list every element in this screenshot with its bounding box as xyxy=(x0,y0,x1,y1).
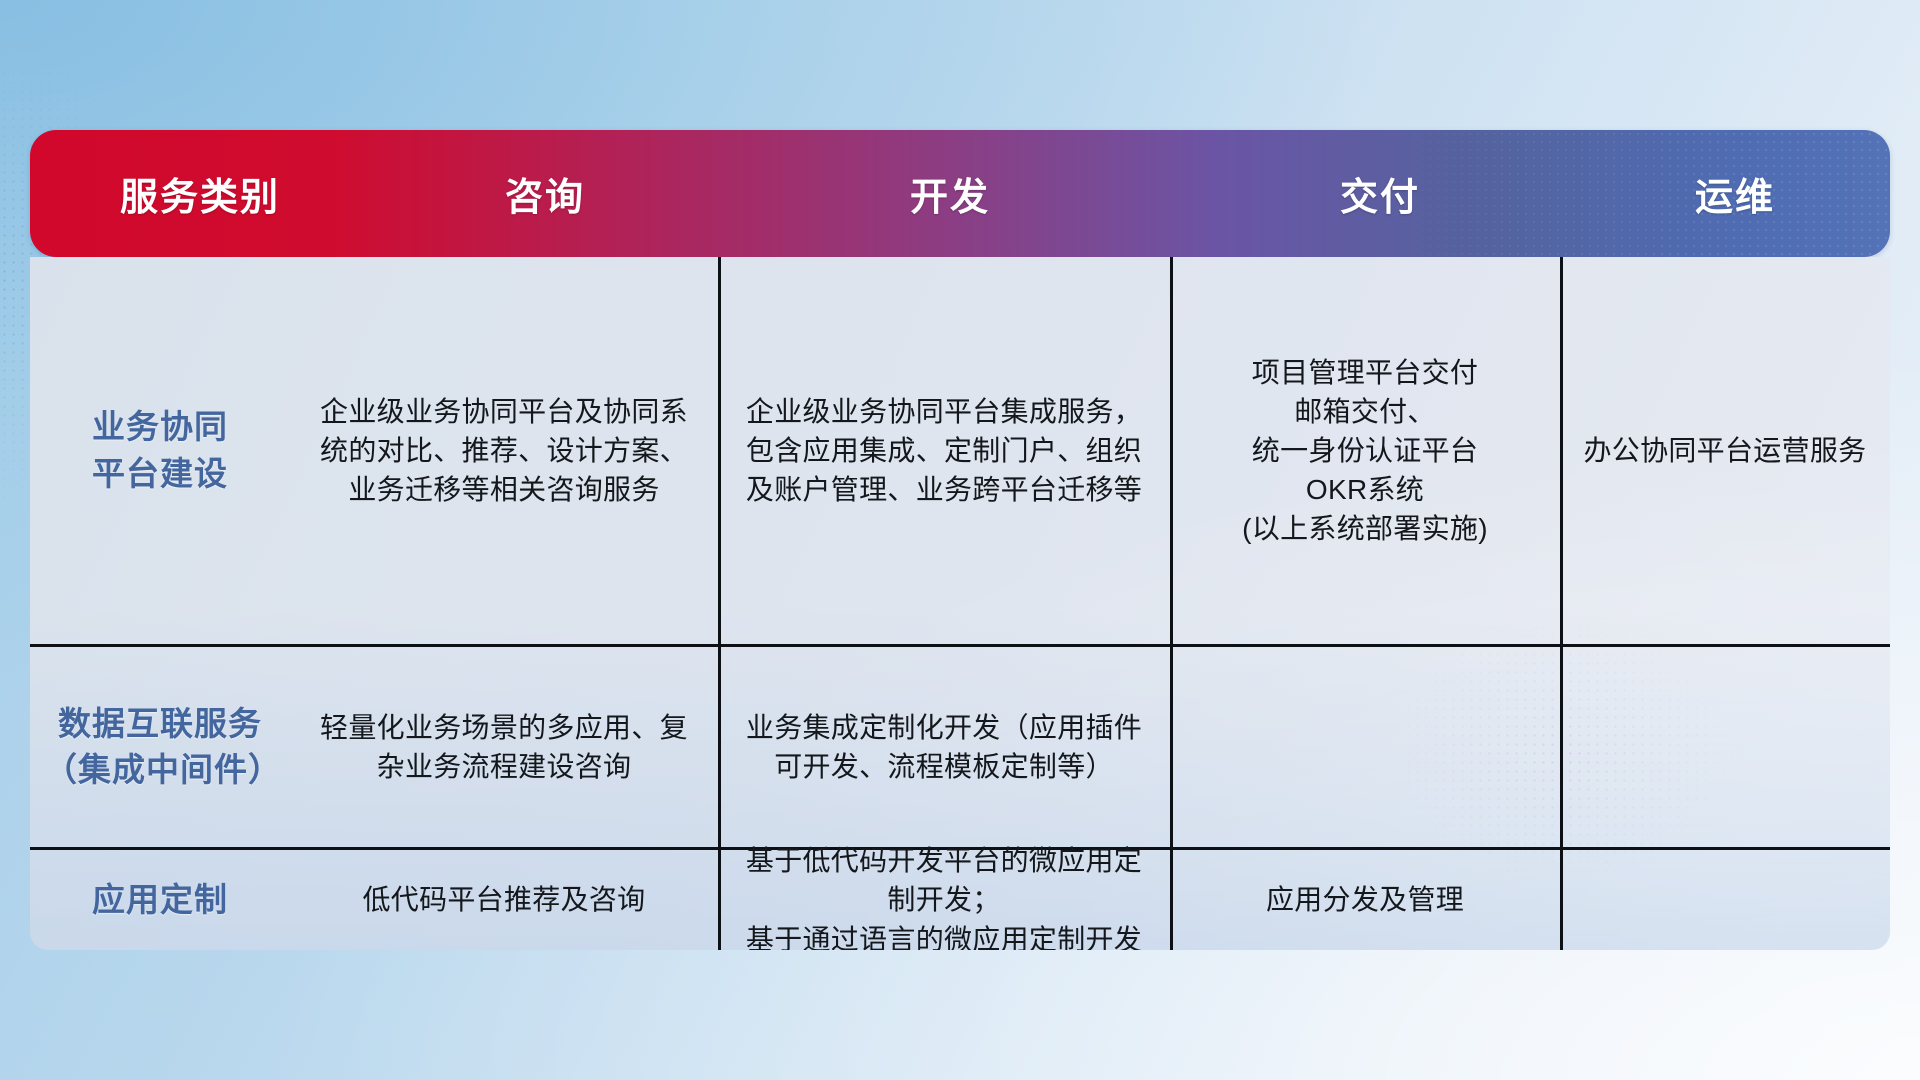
cell-consult-row2: 轻量化业务场景的多应用、复 杂业务流程建设咨询 xyxy=(290,647,718,847)
cell-text: 项目管理平台交付 邮箱交付、 统一身份认证平台 OKR系统 (以上系统部署实施) xyxy=(1242,353,1488,549)
cell-develop-row3: 基于低代码开发平台的微应用定 制开发； 基于通过语言的微应用定制开发 xyxy=(718,850,1170,950)
cell-text: 企业级业务协同平台及协同系 统的对比、推荐、设计方案、 业务迁移等相关咨询服务 xyxy=(320,392,688,510)
cell-category-row2: 数据互联服务 （集成中间件） xyxy=(30,647,290,847)
header-cell-ops: 运维 xyxy=(1580,166,1890,221)
cell-deliver-row3: 应用分发及管理 xyxy=(1170,850,1560,950)
cell-text: 应用分发及管理 xyxy=(1266,880,1464,919)
cell-consult-row1: 企业级业务协同平台及协同系 统的对比、推荐、设计方案、 业务迁移等相关咨询服务 xyxy=(290,257,718,644)
cell-text: 办公协同平台运营服务 xyxy=(1583,431,1866,470)
cell-deliver-row1: 项目管理平台交付 邮箱交付、 统一身份认证平台 OKR系统 (以上系统部署实施) xyxy=(1170,257,1560,644)
cell-ops-row2 xyxy=(1560,647,1890,847)
cell-ops-row3 xyxy=(1560,850,1890,950)
header-cell-deliver: 交付 xyxy=(1180,166,1580,221)
header-cell-develop: 开发 xyxy=(720,166,1180,221)
cell-category-row1: 业务协同 平台建设 xyxy=(30,257,290,644)
table-row: 应用定制 低代码平台推荐及咨询 基于低代码开发平台的微应用定 制开发； 基于通过… xyxy=(30,850,1890,950)
category-label: 数据互联服务 （集成中间件） xyxy=(44,701,276,793)
table-header-row: 服务类别 咨询 开发 交付 运维 xyxy=(30,130,1890,257)
table-cells-layer: 业务协同 平台建设 企业级业务协同平台及协同系 统的对比、推荐、设计方案、 业务… xyxy=(30,257,1890,950)
cell-consult-row3: 低代码平台推荐及咨询 xyxy=(290,850,718,950)
category-label: 应用定制 xyxy=(92,877,228,923)
header-cell-category: 服务类别 xyxy=(30,166,370,221)
cell-text: 业务集成定制化开发（应用插件 可开发、流程模板定制等） xyxy=(746,708,1142,786)
cell-category-row3: 应用定制 xyxy=(30,850,290,950)
cell-text: 基于低代码开发平台的微应用定 制开发； 基于通过语言的微应用定制开发 xyxy=(746,841,1142,950)
cell-text: 企业级业务协同平台集成服务， 包含应用集成、定制门户、组织 及账户管理、业务跨平… xyxy=(746,392,1142,510)
category-label: 业务协同 平台建设 xyxy=(92,404,228,496)
cell-text: 低代码平台推荐及咨询 xyxy=(362,880,645,919)
table-row: 数据互联服务 （集成中间件） 轻量化业务场景的多应用、复 杂业务流程建设咨询 业… xyxy=(30,647,1890,847)
cell-ops-row1: 办公协同平台运营服务 xyxy=(1560,257,1890,644)
cell-text: 轻量化业务场景的多应用、复 杂业务流程建设咨询 xyxy=(320,708,688,786)
table-body-panel: 业务协同 平台建设 企业级业务协同平台及协同系 统的对比、推荐、设计方案、 业务… xyxy=(30,257,1890,950)
header-cell-consult: 咨询 xyxy=(370,166,720,221)
table-row: 业务协同 平台建设 企业级业务协同平台及协同系 统的对比、推荐、设计方案、 业务… xyxy=(30,257,1890,644)
cell-develop-row1: 企业级业务协同平台集成服务， 包含应用集成、定制门户、组织 及账户管理、业务跨平… xyxy=(718,257,1170,644)
cell-develop-row2: 业务集成定制化开发（应用插件 可开发、流程模板定制等） xyxy=(718,647,1170,847)
cell-deliver-row2 xyxy=(1170,647,1560,847)
service-matrix-table: 服务类别 咨询 开发 交付 运维 业务协同 平台建设 企业级业务协同平台及协同系… xyxy=(30,130,1890,950)
